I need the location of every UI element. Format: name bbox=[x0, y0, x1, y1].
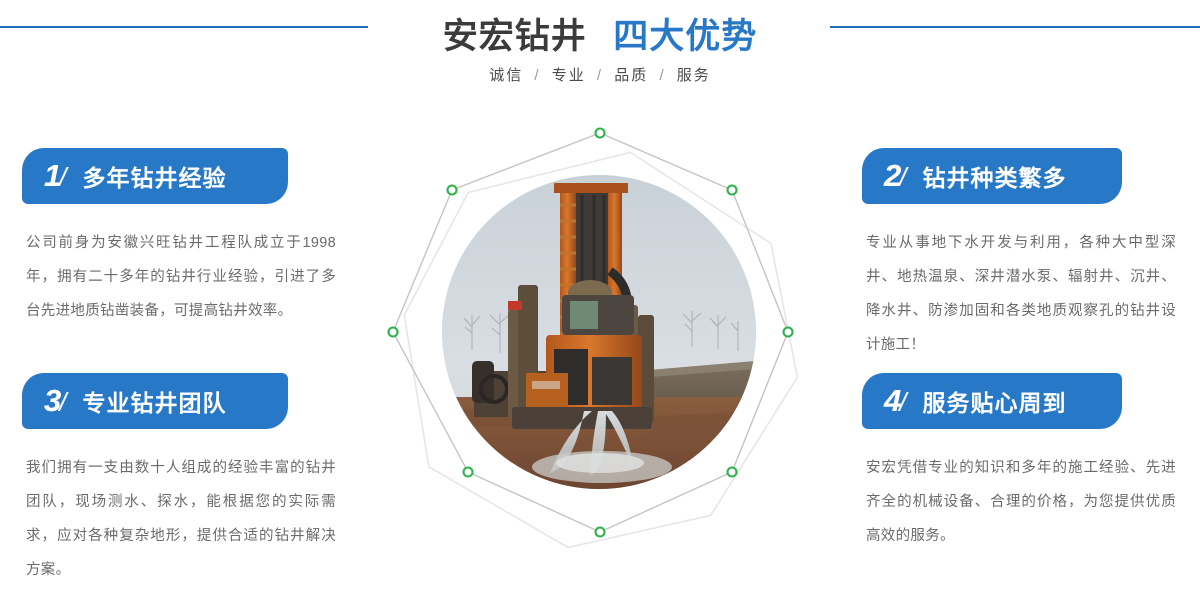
page-title-accent: 四大优势 bbox=[613, 17, 757, 56]
page-subtitle: 诚信 / 专业 / 品质 / 服务 bbox=[0, 64, 1200, 85]
feature-badge-3[interactable]: 3/ 专业钻井团队 bbox=[22, 373, 288, 429]
subtitle-item-3: 品质 bbox=[614, 67, 648, 84]
node-top bbox=[596, 129, 605, 138]
subtitle-separator-2: / bbox=[597, 67, 603, 84]
feature-body-4: 安宏凭借专业的知识和多年的施工经验、先进齐全的机械设备、合理的价格，为您提供优质… bbox=[866, 451, 1176, 553]
page-title-main: 安宏钻井 bbox=[443, 17, 587, 56]
feature-body-3: 我们拥有一支由数十人组成的经验丰富的钻井团队，现场测水、探水，能根据您的实际需求… bbox=[26, 451, 336, 587]
feature-title-3: 专业钻井团队 bbox=[82, 384, 226, 418]
center-graphic bbox=[380, 110, 820, 580]
feature-badge-2[interactable]: 2/ 钻井种类繁多 bbox=[862, 148, 1122, 204]
feature-number-1: 1/ bbox=[44, 160, 66, 191]
feature-number-4: 4/ bbox=[884, 385, 906, 416]
page-title: 安宏钻井 四大优势 bbox=[0, 8, 1200, 59]
feature-number-2: 2/ bbox=[884, 160, 906, 191]
node-left bbox=[389, 328, 398, 337]
feature-title-1: 多年钻井经验 bbox=[82, 159, 226, 193]
feature-badge-4[interactable]: 4/ 服务贴心周到 bbox=[862, 373, 1122, 429]
page-header: 安宏钻井 四大优势 诚信 / 专业 / 品质 / 服务 bbox=[0, 0, 1200, 110]
feature-title-4: 服务贴心周到 bbox=[922, 384, 1066, 418]
subtitle-separator-1: / bbox=[534, 67, 540, 84]
feature-body-2: 专业从事地下水开发与利用，各种大中型深井、地热温泉、深井潜水泵、辐射井、沉井、降… bbox=[866, 226, 1176, 362]
node-right bbox=[784, 328, 793, 337]
promo-page: 安宏钻井 四大优势 诚信 / 专业 / 品质 / 服务 bbox=[0, 0, 1200, 600]
subtitle-item-4: 服务 bbox=[677, 67, 711, 84]
node-bottom bbox=[596, 528, 605, 537]
subtitle-separator-3: / bbox=[659, 67, 665, 84]
feature-number-3: 3/ bbox=[44, 385, 66, 416]
drilling-rig-photo bbox=[442, 175, 756, 489]
feature-badge-1[interactable]: 1/ 多年钻井经验 bbox=[22, 148, 288, 204]
subtitle-item-2: 专业 bbox=[552, 67, 586, 84]
feature-body-1: 公司前身为安徽兴旺钻井工程队成立于1998年，拥有二十多年的钻井行业经验，引进了… bbox=[26, 226, 336, 328]
subtitle-item-1: 诚信 bbox=[489, 67, 523, 84]
feature-title-2: 钻井种类繁多 bbox=[922, 159, 1066, 193]
